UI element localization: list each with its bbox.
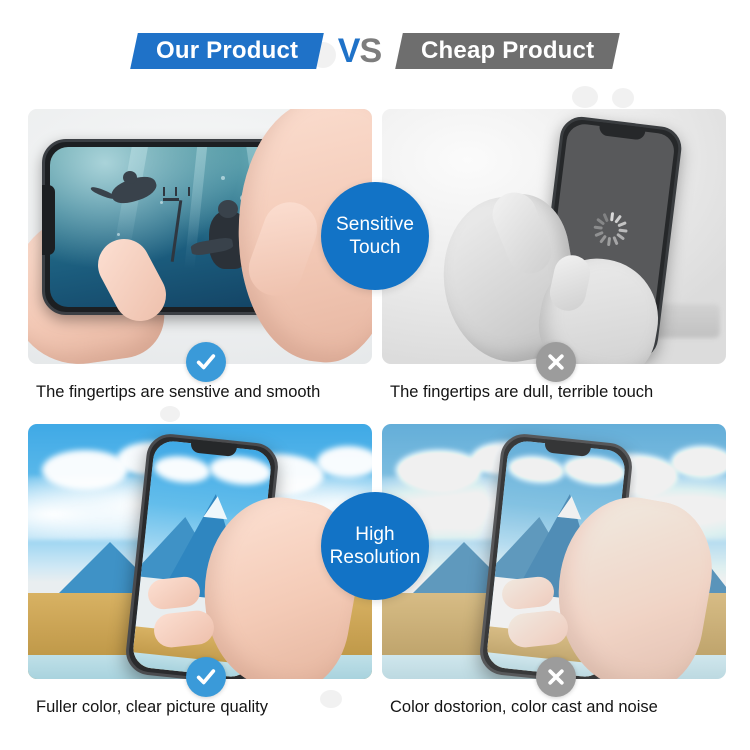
- cross-icon: [536, 657, 576, 697]
- cross-icon: [536, 342, 576, 382]
- our-product-label: Our Product: [156, 37, 298, 65]
- cheap-product-label: Cheap Product: [421, 37, 594, 65]
- caption-bottom-left: Fuller color, clear picture quality: [36, 698, 268, 717]
- feature-line-1: Sensitive: [336, 213, 414, 236]
- comparison-header: Our Product VS Cheap Product: [0, 0, 750, 102]
- phone-notch: [42, 185, 55, 255]
- vs-v-letter: V: [338, 32, 360, 70]
- caption-top-right: The fingertips are dull, terrible touch: [390, 383, 653, 402]
- scene-high-resolution-bad: [382, 424, 726, 679]
- cheap-product-banner: Cheap Product: [395, 33, 620, 69]
- background-blob: [160, 406, 180, 422]
- trident: [171, 200, 183, 262]
- caption-bottom-right: Color dostorion, color cast and noise: [390, 698, 658, 717]
- caption-top-left: The fingertips are senstive and smooth: [36, 383, 320, 402]
- check-icon: [186, 657, 226, 697]
- scene-sensitive-touch-bad: [382, 109, 726, 364]
- background-blob: [320, 690, 342, 708]
- our-product-banner: Our Product: [130, 33, 324, 69]
- panel-bottom-right: [382, 424, 726, 679]
- feature-line-1: High: [355, 523, 394, 546]
- panel-top-right: [382, 109, 726, 364]
- feature-badge-high-resolution: High Resolution: [321, 492, 429, 600]
- vs-s-letter: S: [359, 32, 381, 70]
- vs-label: VS: [338, 34, 381, 68]
- loading-spinner-icon: [591, 210, 629, 248]
- feature-line-2: Resolution: [330, 546, 421, 569]
- feature-line-2: Touch: [349, 236, 400, 259]
- check-icon: [186, 342, 226, 382]
- feature-badge-sensitive-touch: Sensitive Touch: [321, 182, 429, 290]
